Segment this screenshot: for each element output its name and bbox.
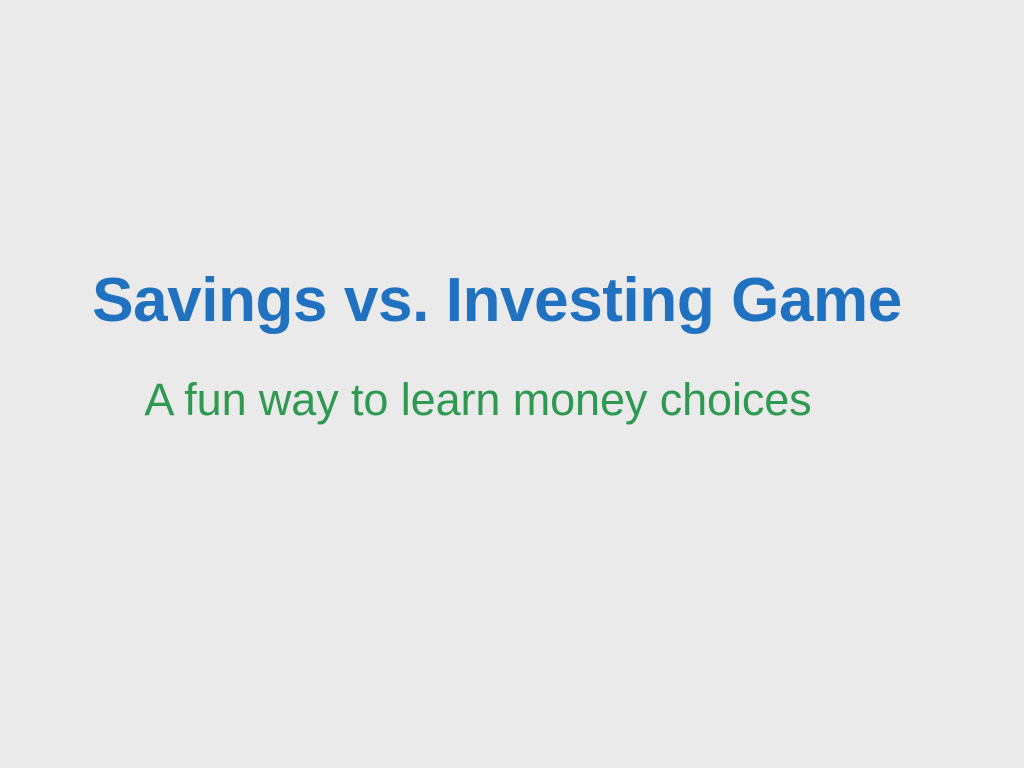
- slide-title: Savings vs. Investing Game: [0, 268, 994, 335]
- subtitle-placeholder: A fun way to learn money choices: [0, 375, 1024, 425]
- title-placeholder: Savings vs. Investing Game: [0, 268, 1024, 335]
- presentation-slide: Savings vs. Investing Game A fun way to …: [0, 0, 1024, 768]
- slide-subtitle: A fun way to learn money choices: [0, 375, 956, 425]
- slide-content: Savings vs. Investing Game A fun way to …: [0, 0, 1024, 768]
